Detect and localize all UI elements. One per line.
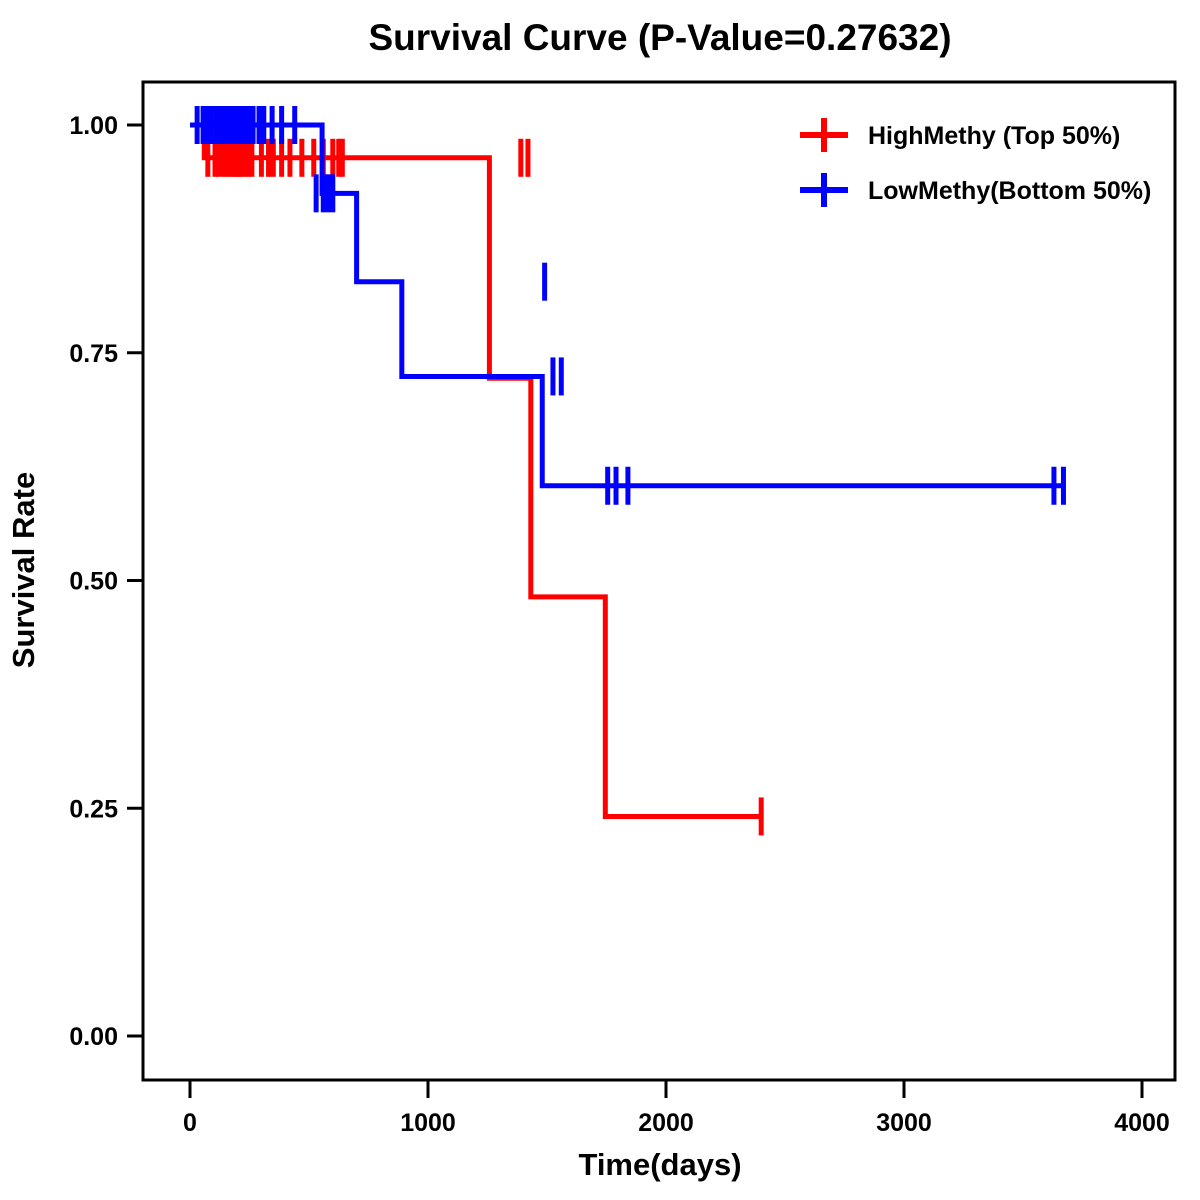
survival-plot-canvas: Survival Curve (P-Value=0.27632) 0.000.2… [0,0,1200,1200]
km-step-line [190,125,764,816]
y-tick-label: 0.75 [69,340,118,368]
x-axis-label: Time(days) [578,1147,741,1182]
page-title: Survival Curve (P-Value=0.27632) [368,17,951,58]
y-tick-label: 0.50 [69,568,118,596]
x-tick-label: 2000 [638,1109,694,1137]
y-tick-label: 0.00 [69,1023,118,1051]
survival-curve-figure: Survival Curve (P-Value=0.27632) 0.000.2… [0,0,1200,1200]
chart-legend: HighMethy (Top 50%)LowMethy(Bottom 50%) [800,118,1151,207]
y-tick-label: 0.25 [69,795,118,823]
y-axis-ticks: 0.000.250.500.751.00 [69,112,143,1051]
x-tick-label: 4000 [1114,1109,1170,1137]
y-tick-label: 1.00 [69,112,118,140]
y-axis-label: Survival Rate [6,472,41,668]
legend-label: HighMethy (Top 50%) [868,122,1120,150]
survival-series [190,106,1063,505]
x-tick-label: 0 [183,1109,197,1137]
survival-curves [190,106,1063,835]
survival-series [190,125,764,835]
x-tick-label: 1000 [400,1109,456,1137]
x-axis-ticks: 01000200030004000 [183,1080,1170,1137]
x-tick-label: 3000 [876,1109,932,1137]
plot-frame [143,82,1175,1080]
legend-label: LowMethy(Bottom 50%) [868,177,1151,205]
